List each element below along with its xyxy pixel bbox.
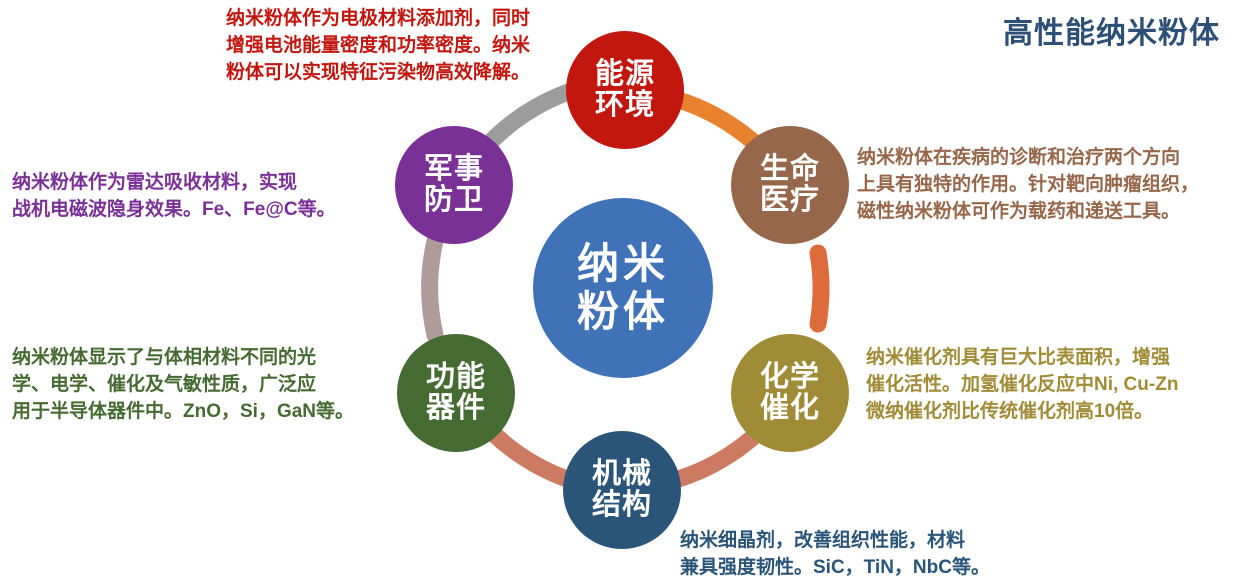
node-label-line1: 功能 xyxy=(426,362,486,393)
node-label-line2: 医疗 xyxy=(760,185,820,216)
node-label-line1: 生命 xyxy=(760,154,820,185)
callout-life-medicine: 纳米粉体在疾病的诊断和治疗两个方向 上具有独特的作用。针对靶向肿瘤组织， 磁性纳… xyxy=(857,145,1248,226)
node-mechanical-structure[interactable]: 机械 结构 xyxy=(563,431,681,549)
callout-chemical-catalysis: 纳米催化剂具有巨大比表面积，增强 催化活性。加氢催化反应中Ni, Cu-Zn 微… xyxy=(866,345,1248,426)
callout-mechanical-structure: 纳米细晶剂，改善组织性能，材料 兼具强度韧性。SiC，TiN，NbC等。 xyxy=(680,528,1080,582)
arc-function-military xyxy=(430,241,435,335)
node-label-line1: 军事 xyxy=(424,154,484,185)
node-life-medicine[interactable]: 生命 医疗 xyxy=(731,126,849,244)
node-functional-device[interactable]: 功能 器件 xyxy=(397,334,515,452)
nano-powder-applications-diagram: 高性能纳米粉体 能源 环境 生命 医疗 化学 催化 机械 结构 xyxy=(0,0,1248,584)
node-label-line2: 结构 xyxy=(592,490,652,521)
node-chemical-catalysis[interactable]: 化学 催化 xyxy=(731,334,849,452)
page-title: 高性能纳米粉体 xyxy=(1003,8,1220,52)
arc-life-chemical xyxy=(818,253,821,324)
node-military-defense[interactable]: 军事 防卫 xyxy=(395,126,513,244)
application-wheel: 能源 环境 生命 医疗 化学 催化 机械 结构 功能 器件 军事 防卫 纳米 粉… xyxy=(355,10,895,580)
node-label-line2: 防卫 xyxy=(424,185,484,216)
node-label-line1: 机械 xyxy=(592,459,652,490)
callout-energy-environment: 纳米粉体作为电极材料添加剂，同时 增强电池能量密度和功率密度。纳米 粉体可以实现… xyxy=(178,6,578,87)
node-label-line1: 化学 xyxy=(760,362,820,393)
node-label-line2: 催化 xyxy=(760,393,820,424)
hub-label-line2: 粉体 xyxy=(577,288,669,336)
callout-functional-device: 纳米粉体显示了与体相材料不同的光 学、电学、催化及气敏性质，广泛应 用于半导体器… xyxy=(12,345,397,426)
node-energy-environment[interactable]: 能源 环境 xyxy=(566,31,684,149)
hub-label-line1: 纳米 xyxy=(577,240,669,288)
callout-military-defense: 纳米粉体作为雷达吸收材料，实现 战机电磁波隐身效果。Fe、Fe@C等。 xyxy=(12,170,397,224)
node-label-line2: 环境 xyxy=(595,90,655,121)
node-label-line1: 能源 xyxy=(595,59,655,90)
hub-nano-powder[interactable]: 纳米 粉体 xyxy=(533,198,713,378)
node-label-line2: 器件 xyxy=(426,393,486,424)
